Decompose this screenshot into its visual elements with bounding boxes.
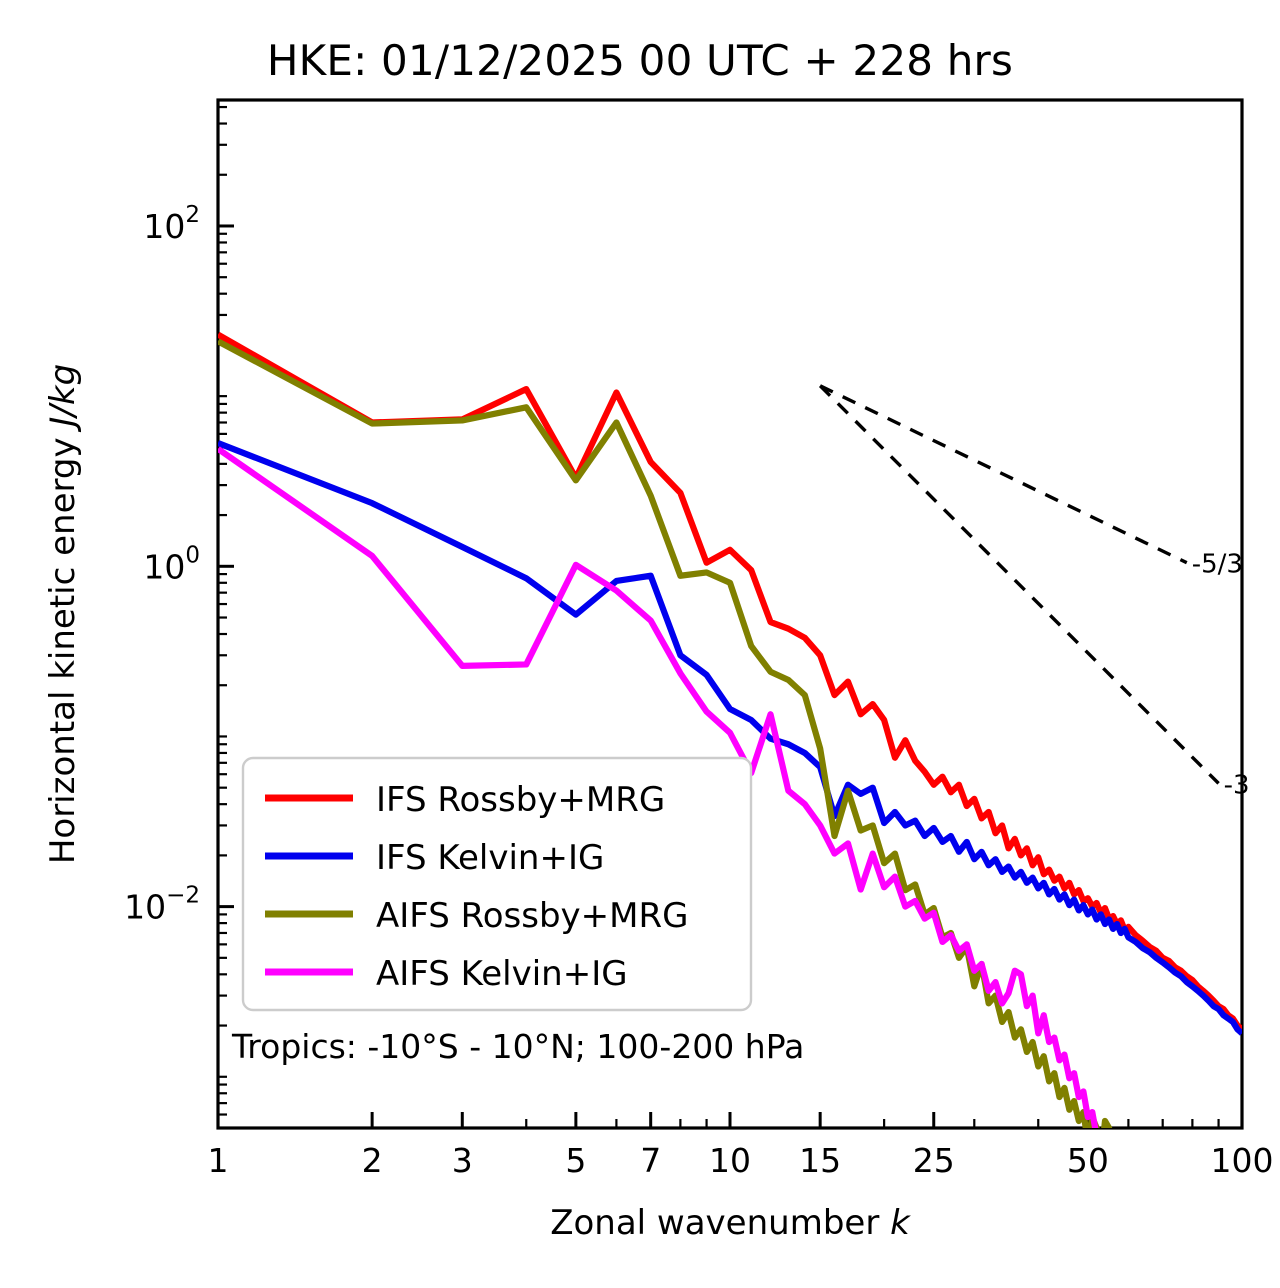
- y-tick-exponent: 0: [185, 542, 200, 568]
- x-tick-label: 5: [565, 1141, 586, 1180]
- x-axis-label: Zonal wavenumber k: [550, 1203, 911, 1243]
- y-tick-label: 102: [143, 202, 200, 246]
- slope-line--3: [820, 386, 1218, 784]
- chart-legend: IFS Rossby+MRGIFS Kelvin+IGAIFS Rossby+M…: [243, 758, 751, 1010]
- slope-label: -3: [1224, 770, 1250, 800]
- x-tick-label: 25: [913, 1141, 955, 1180]
- y-axis-label-group: Horizontal kinetic energy J/kg: [43, 364, 83, 864]
- slope-label: -5/3: [1192, 550, 1243, 580]
- x-tick-label: 10: [709, 1141, 751, 1180]
- plot-svg: -5/3-3 123571015255010010210010−2Zonal w…: [0, 0, 1280, 1288]
- axis-labels-group: 123571015255010010210010−2Zonal wavenumb…: [43, 202, 1274, 1243]
- y-tick-exponent: 2: [185, 202, 200, 228]
- slope-reference-lines: -5/3-3: [820, 386, 1249, 801]
- x-tick-label: 50: [1067, 1141, 1109, 1180]
- region-annotation: Tropics: -10°S - 10°N; 100-200 hPa: [231, 1027, 804, 1066]
- chart-figure: HKE: 01/12/2025 00 UTC + 228 hrs -5/3-3 …: [0, 0, 1280, 1288]
- tropics-annotation: Tropics: -10°S - 10°N; 100-200 hPa: [231, 1027, 804, 1066]
- y-tick-exponent: −2: [166, 883, 200, 909]
- y-axis-label-units: J/kg: [43, 364, 83, 433]
- y-tick-label: 10−2: [124, 883, 200, 927]
- x-tick-label: 100: [1211, 1141, 1274, 1180]
- y-tick-label: 100: [143, 542, 200, 586]
- legend-label-2: AIFS Rossby+MRG: [376, 896, 688, 936]
- legend-label-3: AIFS Kelvin+IG: [376, 954, 628, 994]
- legend-label-0: IFS Rossby+MRG: [376, 780, 665, 820]
- x-axis-label-symbol: k: [890, 1203, 911, 1243]
- x-tick-label: 2: [362, 1141, 383, 1180]
- x-tick-label: 1: [208, 1141, 229, 1180]
- legend-label-1: IFS Kelvin+IG: [376, 838, 604, 878]
- x-tick-label: 3: [452, 1141, 473, 1180]
- y-axis-label: Horizontal kinetic energy J/kg: [43, 364, 83, 864]
- slope-line--5/3: [820, 386, 1187, 563]
- x-tick-label: 7: [640, 1141, 661, 1180]
- x-tick-label: 15: [799, 1141, 841, 1180]
